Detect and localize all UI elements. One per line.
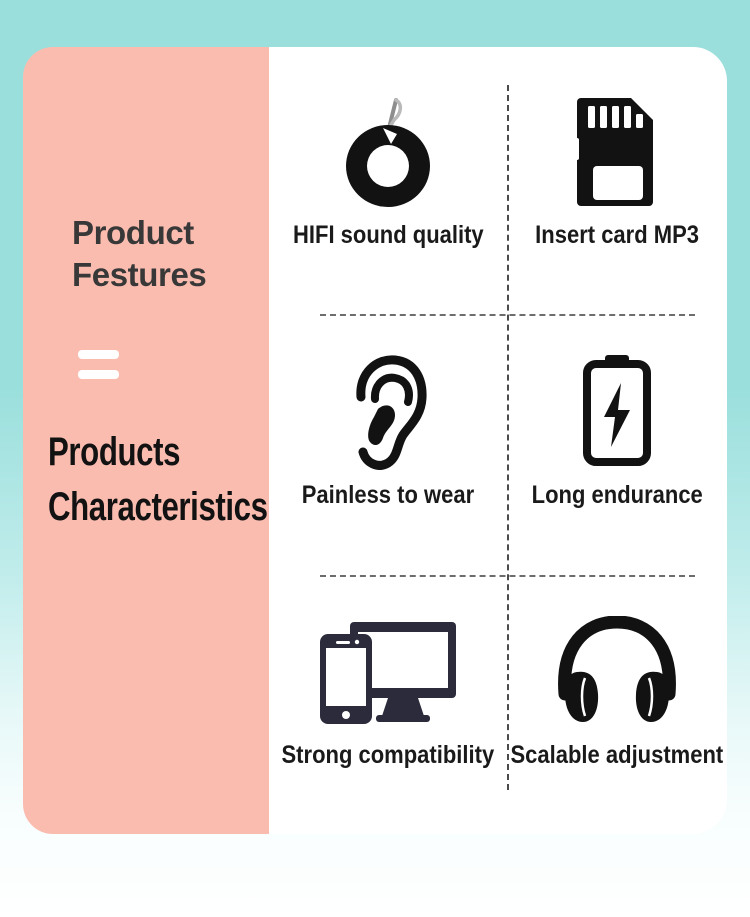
feature-item-strong-compatibility[interactable]: Strong compatibility xyxy=(274,607,502,852)
feature-label: HIFI sound quality xyxy=(293,221,484,249)
page-title-line-1: Product xyxy=(72,212,272,254)
page-subtitle-line-1: Products xyxy=(48,425,227,480)
battery-lightning-icon xyxy=(575,353,659,471)
feature-item-scalable-adjustment[interactable]: Scalable adjustment xyxy=(503,607,731,852)
ear-icon xyxy=(338,353,438,471)
vertical-dashed-divider xyxy=(507,85,509,790)
feature-item-insert-card-mp3[interactable]: Insert card MP3 xyxy=(503,87,731,332)
divider-marks xyxy=(78,350,119,390)
headphones-icon xyxy=(555,613,679,731)
page-title-line-2: Festures xyxy=(72,254,272,296)
page-subtitle-line-2: Characteristics xyxy=(48,480,227,535)
feature-label: Long endurance xyxy=(531,481,702,509)
pink-side-panel: Product Festures Products Characteristic… xyxy=(23,47,269,834)
page-subtitle: Products Characteristics xyxy=(48,425,227,535)
left-panel-content: Product Festures Products Characteristic… xyxy=(23,47,269,834)
feature-item-long-endurance[interactable]: Long endurance xyxy=(503,347,731,592)
page-title: Product Festures xyxy=(72,212,272,296)
product-features-poster: Product Festures Products Characteristic… xyxy=(0,0,750,917)
divider-bar-1 xyxy=(78,350,119,359)
feature-item-hifi-sound-quality[interactable]: HIFI sound quality xyxy=(274,87,502,332)
coiled-cable-ring-icon xyxy=(333,93,443,211)
sd-memory-card-icon xyxy=(569,93,665,211)
phone-monitor-icon xyxy=(314,613,462,731)
divider-bar-2 xyxy=(78,370,119,379)
feature-label: Insert card MP3 xyxy=(535,221,699,249)
feature-label: Strong compatibility xyxy=(282,741,495,769)
feature-label: Scalable adjustment xyxy=(511,741,724,769)
feature-grid: HIFI sound quality Insert card MP3 xyxy=(268,47,727,834)
feature-label: Painless to wear xyxy=(302,481,474,509)
feature-item-painless-to-wear[interactable]: Painless to wear xyxy=(274,347,502,592)
